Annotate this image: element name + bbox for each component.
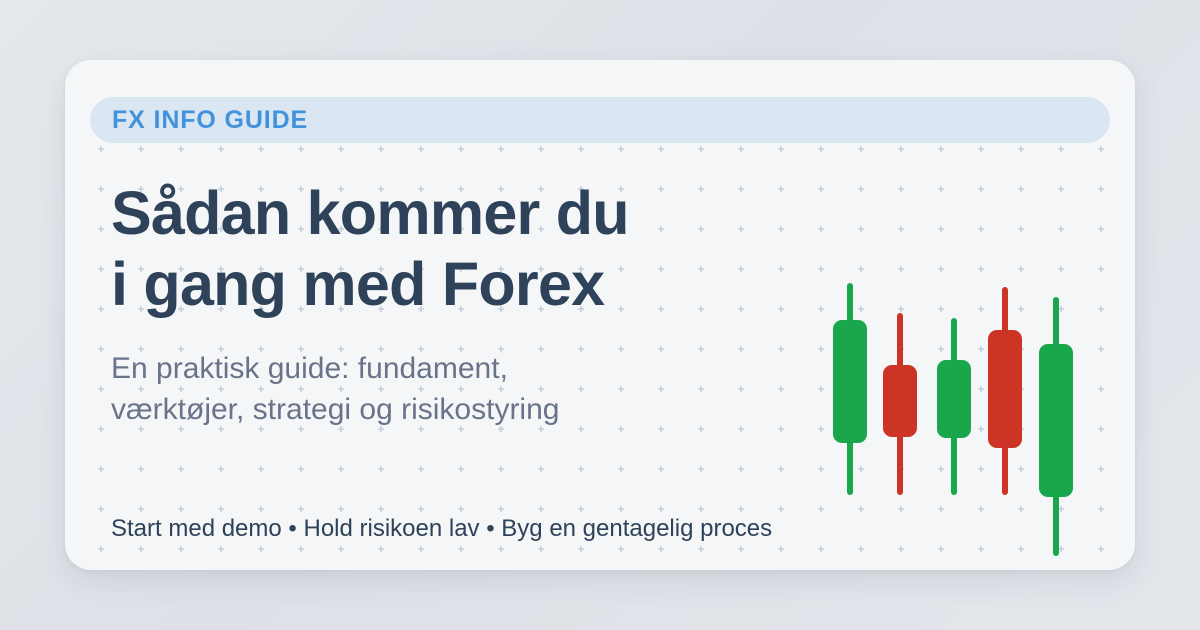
candle-body [988, 330, 1022, 448]
headline-line-1: Sådan kommer du [111, 178, 831, 249]
candlestick-4 [983, 270, 1027, 570]
page-title: Sådan kommer du i gang med Forex [111, 178, 831, 320]
candle-body [937, 360, 971, 438]
candlestick-2 [878, 270, 922, 570]
subtitle-line-2: værktøjer, strategi og risikostyring [111, 389, 751, 430]
category-badge: FX INFO GUIDE [90, 97, 1110, 143]
candle-body [833, 320, 867, 443]
subtitle: En praktisk guide: fundament, værktøjer,… [111, 348, 751, 431]
candle-body [883, 365, 917, 437]
candle-body [1039, 344, 1073, 497]
candlestick-1 [828, 270, 872, 570]
candlestick-5 [1034, 270, 1078, 570]
candlestick-chart [820, 270, 1090, 570]
headline-line-2: i gang med Forex [111, 249, 831, 320]
badge-label: FX INFO GUIDE [90, 108, 308, 133]
subtitle-line-1: En praktisk guide: fundament, [111, 348, 751, 389]
candlestick-3 [932, 270, 976, 570]
footnote-tips: Start med demo • Hold risikoen lav • Byg… [111, 515, 772, 543]
